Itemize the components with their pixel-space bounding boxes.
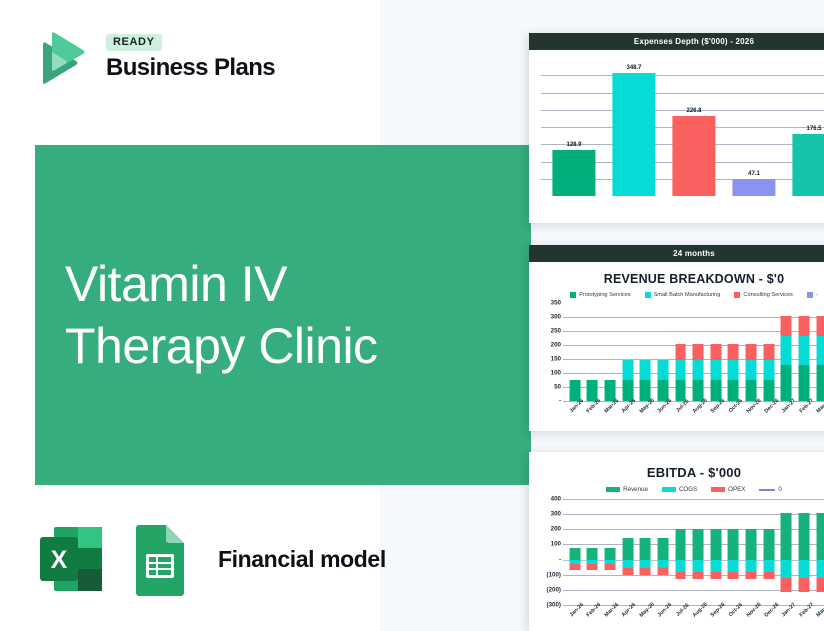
ebitda-column [816, 499, 824, 605]
expenses-bars: 128.9348.7226.847.1176.5 [541, 58, 824, 196]
stack-segment [622, 568, 633, 575]
x-tick-label: Oct-26 [728, 602, 745, 619]
stack-segment [798, 336, 809, 365]
expenses-bar-chart: 128.9348.7226.847.1176.5 [537, 58, 824, 196]
bar-slot [672, 499, 690, 605]
stack-segment [657, 560, 668, 569]
ebitda-bars [563, 499, 824, 605]
bar-slot [637, 499, 655, 605]
stacked-column [781, 316, 792, 401]
stacked-column [657, 360, 668, 401]
stack-segment [675, 360, 686, 380]
x-tick-label: Jul-26 [674, 602, 691, 619]
x-tick-label: Feb-27 [798, 602, 815, 619]
y-tick-label: (300) [547, 602, 561, 609]
stack-segment [763, 380, 774, 401]
ebitda-column [746, 499, 757, 605]
y-tick-label: 350 [551, 300, 561, 307]
stack-segment [657, 360, 668, 380]
negative-stack [640, 560, 651, 576]
expenses-chart-banner: Expenses Depth ($'000) - 2026 [529, 33, 824, 50]
y-tick-label: - [559, 556, 561, 563]
expenses-bar [612, 73, 655, 196]
ebitda-column [640, 499, 651, 605]
bar-slot [672, 303, 690, 401]
y-tick-label: 200 [551, 526, 561, 533]
stack-segment [569, 564, 580, 570]
stack-segment [605, 380, 616, 401]
stack-segment [675, 560, 686, 572]
x-tick-label: Dec-26 [763, 602, 780, 619]
bar-slot [742, 303, 760, 401]
x-tick-label: Sep-26 [710, 398, 727, 415]
stack-segment [816, 336, 824, 365]
ebitda-column [710, 499, 721, 605]
expenses-bar [672, 116, 715, 196]
bar-slot [778, 303, 796, 401]
bar-slot [619, 303, 637, 401]
x-tick-label: Jan-27 [781, 398, 798, 415]
x-tick-label: Mar-26 [603, 398, 620, 415]
legend-swatch [711, 487, 725, 492]
expenses-bar [792, 134, 824, 196]
bar-slot [601, 303, 619, 401]
positive-stack [657, 538, 668, 560]
stack-segment [798, 365, 809, 401]
legend-label: - [816, 292, 818, 298]
positive-stack [640, 538, 651, 560]
stack-segment [728, 380, 739, 401]
x-tick-label: Nov-26 [745, 602, 762, 619]
y-tick-label: 300 [551, 511, 561, 518]
negative-stack [657, 560, 668, 576]
bar-slot [760, 499, 778, 605]
stack-segment [728, 529, 739, 560]
stack-segment [657, 380, 668, 401]
play-triangles-logo-icon [30, 27, 92, 89]
stack-segment [693, 529, 704, 560]
legend-label: OPEX [728, 486, 745, 493]
stack-segment [640, 538, 651, 560]
x-tick-label: Jan-27 [781, 602, 798, 619]
positive-stack [798, 513, 809, 559]
x-tick-label: Feb-26 [586, 602, 603, 619]
legend-item: 0 [759, 486, 781, 493]
ebitda-column [675, 499, 686, 605]
stack-segment [569, 380, 580, 401]
x-tick-label: Aug-26 [692, 398, 709, 415]
legend-item: COGS [662, 486, 697, 493]
brand-lockup: READY Business Plans [30, 27, 275, 89]
legend-item: Prototyping Services [570, 292, 630, 298]
negative-stack [781, 560, 792, 592]
bar-slot [689, 303, 707, 401]
stack-segment [798, 578, 809, 592]
ebitda-column [569, 499, 580, 605]
stack-segment [746, 560, 757, 572]
x-tick-label: Jul-26 [674, 398, 691, 415]
stack-segment [675, 380, 686, 401]
y-tick-label: 200 [551, 342, 561, 349]
stack-segment [693, 344, 704, 361]
stack-segment [763, 360, 774, 380]
ebitda-chart-title: EBITDA - $'000 [537, 465, 824, 480]
y-tick-label: 100 [551, 541, 561, 548]
stack-segment [816, 560, 824, 579]
positive-stack [746, 529, 757, 560]
stack-segment [569, 548, 580, 559]
negative-stack [728, 560, 739, 580]
stack-segment [746, 572, 757, 579]
ebitda-column [798, 499, 809, 605]
chart-card-expenses: Expenses Depth ($'000) - 2026 128.9348.7… [529, 33, 824, 223]
y-tick-label: 300 [551, 314, 561, 321]
legend-item: Revenue [606, 486, 648, 493]
y-tick-label: (200) [547, 586, 561, 593]
ebitda-column [728, 499, 739, 605]
stack-segment [693, 360, 704, 380]
bar-slot [725, 499, 743, 605]
stack-segment [675, 572, 686, 579]
ebitda-column [622, 499, 633, 605]
bar-slot [760, 303, 778, 401]
ebitda-diverging-bar-chart: 400300200100-(100)(200)(300) Jan-26Feb-2… [537, 499, 824, 605]
legend-item: - [807, 292, 818, 298]
stacked-column [675, 344, 686, 401]
stack-segment [746, 380, 757, 401]
stack-segment [816, 578, 824, 592]
bar-slot [795, 303, 813, 401]
positive-stack [728, 529, 739, 560]
stacked-column [693, 344, 704, 401]
stack-segment [728, 572, 739, 579]
legend-item: Consulting Services [734, 292, 792, 298]
x-tick-label: Feb-26 [586, 398, 603, 415]
expenses-bar-label: 348.7 [626, 65, 641, 71]
stack-segment [640, 568, 651, 575]
stacked-column [763, 344, 774, 401]
stack-segment [781, 365, 792, 401]
positive-stack [587, 548, 598, 559]
bar-slot [654, 499, 672, 605]
legend-item: OPEX [711, 486, 745, 493]
legend-swatch [606, 487, 620, 492]
slide-root: READY Business Plans Vitamin IV Therapy … [0, 0, 824, 631]
microsoft-excel-icon: X [36, 521, 108, 597]
positive-stack [675, 529, 686, 560]
legend-swatch [734, 292, 740, 298]
stack-segment [763, 344, 774, 361]
stack-segment [675, 344, 686, 361]
stack-segment [710, 560, 721, 572]
revenue-chart-banner: 24 months [529, 245, 824, 262]
legend-swatch [807, 292, 813, 298]
bar-slot [654, 303, 672, 401]
bar-slot [584, 499, 602, 605]
negative-stack [587, 560, 598, 571]
stack-segment [710, 380, 721, 401]
stack-segment [693, 380, 704, 401]
x-tick-label: Dec-26 [763, 398, 780, 415]
y-tick-label: 250 [551, 328, 561, 335]
x-tick-label: Mar-26 [603, 602, 620, 619]
legend-label: COGS [679, 486, 697, 493]
x-tick-label: May-26 [639, 398, 656, 415]
stack-segment [587, 548, 598, 559]
x-tick-label: Sep-26 [710, 602, 727, 619]
format-badges-row: X Financial model [36, 521, 386, 597]
stack-segment [746, 529, 757, 560]
stack-segment [816, 513, 824, 559]
bar-slot: 47.1 [724, 58, 784, 196]
stack-segment [781, 578, 792, 592]
bar-slot [742, 499, 760, 605]
ebitda-column [781, 499, 792, 605]
negative-stack [605, 560, 616, 571]
bar-slot [637, 303, 655, 401]
expenses-bar-label: 47.1 [748, 171, 760, 177]
bar-slot: 226.8 [664, 58, 724, 196]
stacked-column [728, 344, 739, 401]
x-tick-label: Mar-27 [816, 602, 824, 619]
negative-stack [622, 560, 633, 576]
bar-slot [566, 499, 584, 605]
ebitda-chart-legend: RevenueCOGSOPEX0 [537, 486, 824, 493]
stack-segment [657, 568, 668, 575]
expenses-bar-label: 128.9 [566, 142, 581, 148]
positive-stack [605, 548, 616, 559]
bar-slot [689, 499, 707, 605]
stacked-column [798, 316, 809, 401]
expenses-bar [732, 179, 775, 196]
stack-segment [640, 380, 651, 401]
legend-swatch [570, 292, 576, 298]
legend-label: Small Batch Manufacturing [654, 292, 721, 298]
stack-segment [728, 360, 739, 380]
bar-slot [725, 303, 743, 401]
stack-segment [710, 360, 721, 380]
chart-card-revenue: 24 months REVENUE BREAKDOWN - $'0 Protot… [529, 245, 824, 431]
bar-slot [619, 499, 637, 605]
ready-badge: READY [106, 34, 162, 51]
ebitda-column [605, 499, 616, 605]
legend-swatch [662, 487, 676, 492]
legend-label: 0 [778, 486, 781, 493]
stack-segment [816, 316, 824, 336]
negative-stack [693, 560, 704, 580]
positive-stack [569, 548, 580, 559]
ebitda-column [587, 499, 598, 605]
stack-segment [710, 529, 721, 560]
brand-name: Business Plans [106, 54, 275, 82]
revenue-stacked-bar-chart: 35030025020015010050- Jan-26Feb-26Mar-26… [537, 303, 824, 401]
stack-segment [622, 560, 633, 569]
stacked-column [746, 344, 757, 401]
google-sheets-icon [126, 521, 194, 597]
positive-stack [622, 538, 633, 560]
legend-item: Small Batch Manufacturing [645, 292, 721, 298]
legend-swatch [645, 292, 651, 298]
negative-stack [798, 560, 809, 592]
revenue-bars [563, 303, 824, 401]
bar-slot: 128.9 [544, 58, 604, 196]
y-tick-label: - [559, 398, 561, 405]
expenses-bar-label: 176.5 [806, 126, 821, 132]
negative-stack [763, 560, 774, 580]
stack-segment [728, 344, 739, 361]
positive-stack [710, 529, 721, 560]
bar-slot: 348.7 [604, 58, 664, 196]
bar-slot [813, 303, 824, 401]
x-tick-label: Aug-26 [692, 602, 709, 619]
legend-label: Revenue [623, 486, 648, 493]
positive-stack [763, 529, 774, 560]
chart-card-ebitda: EBITDA - $'000 RevenueCOGSOPEX0 40030020… [529, 452, 824, 631]
stack-segment [763, 572, 774, 579]
stack-segment [605, 564, 616, 570]
stack-segment [746, 360, 757, 380]
stack-segment [781, 316, 792, 336]
bar-slot [601, 499, 619, 605]
x-tick-label: Jan-26 [569, 398, 586, 415]
stack-segment [798, 316, 809, 336]
negative-stack [710, 560, 721, 580]
expenses-bar-label: 226.8 [686, 108, 701, 114]
x-tick-label: Apr-26 [621, 398, 638, 415]
expenses-bar [552, 150, 595, 196]
svg-text:X: X [51, 546, 68, 574]
negative-stack [675, 560, 686, 580]
positive-stack [781, 513, 792, 559]
ebitda-column [763, 499, 774, 605]
stacked-column [640, 360, 651, 401]
bar-slot [566, 303, 584, 401]
x-tick-label: Apr-26 [621, 602, 638, 619]
x-tick-label: May-26 [639, 602, 656, 619]
x-tick-label: Nov-26 [745, 398, 762, 415]
ebitda-column [657, 499, 668, 605]
bar-slot [813, 499, 824, 605]
stacked-column [605, 380, 616, 401]
stack-segment [798, 513, 809, 559]
legend-label: Prototyping Services [579, 292, 630, 298]
stack-segment [781, 513, 792, 559]
page-title: Vitamin IV Therapy Clinic [65, 253, 378, 377]
x-tick-label: Mar-27 [816, 398, 824, 415]
y-tick-label: 400 [551, 496, 561, 503]
revenue-chart-legend: Prototyping ServicesSmall Batch Manufact… [537, 292, 824, 298]
y-tick-label: (100) [547, 571, 561, 578]
stack-segment [605, 548, 616, 559]
ebitda-column [693, 499, 704, 605]
legend-label: Consulting Services [743, 292, 792, 298]
bar-slot [778, 499, 796, 605]
stack-segment [693, 560, 704, 572]
x-tick-label: Feb-27 [798, 398, 815, 415]
positive-stack [693, 529, 704, 560]
x-tick-label: Jun-26 [657, 602, 674, 619]
stack-segment [781, 560, 792, 579]
stack-segment [763, 560, 774, 572]
stack-segment [710, 344, 721, 361]
bar-slot [795, 499, 813, 605]
negative-stack [816, 560, 824, 592]
stack-segment [710, 572, 721, 579]
stack-segment [587, 564, 598, 570]
legend-swatch [759, 489, 775, 491]
negative-stack [746, 560, 757, 580]
stacked-column [569, 380, 580, 401]
stack-segment [675, 529, 686, 560]
stack-segment [657, 538, 668, 560]
positive-stack [816, 513, 824, 559]
financial-model-label: Financial model [218, 546, 386, 573]
bar-slot: 176.5 [784, 58, 824, 196]
x-tick-label: Oct-26 [728, 398, 745, 415]
stacked-column [816, 316, 824, 401]
stack-segment [640, 360, 651, 380]
stack-segment [746, 344, 757, 361]
x-tick-label: Jan-26 [569, 602, 586, 619]
stack-segment [622, 360, 633, 380]
stack-segment [781, 336, 792, 365]
revenue-chart-title: REVENUE BREAKDOWN - $'0 [537, 272, 824, 286]
stacked-column [622, 360, 633, 401]
stack-segment [693, 572, 704, 579]
stack-segment [798, 560, 809, 579]
bar-slot [707, 499, 725, 605]
stack-segment [728, 560, 739, 572]
stacked-column [710, 344, 721, 401]
x-tick-label: Jun-26 [657, 398, 674, 415]
stack-segment [640, 560, 651, 569]
hero-banner: Vitamin IV Therapy Clinic [35, 145, 531, 485]
stack-segment [816, 365, 824, 401]
y-tick-label: 50 [554, 384, 561, 391]
bar-slot [584, 303, 602, 401]
y-tick-label: 150 [551, 356, 561, 363]
y-tick-label: 100 [551, 370, 561, 377]
bar-slot [707, 303, 725, 401]
stack-segment [763, 529, 774, 560]
stack-segment [622, 538, 633, 560]
negative-stack [569, 560, 580, 571]
